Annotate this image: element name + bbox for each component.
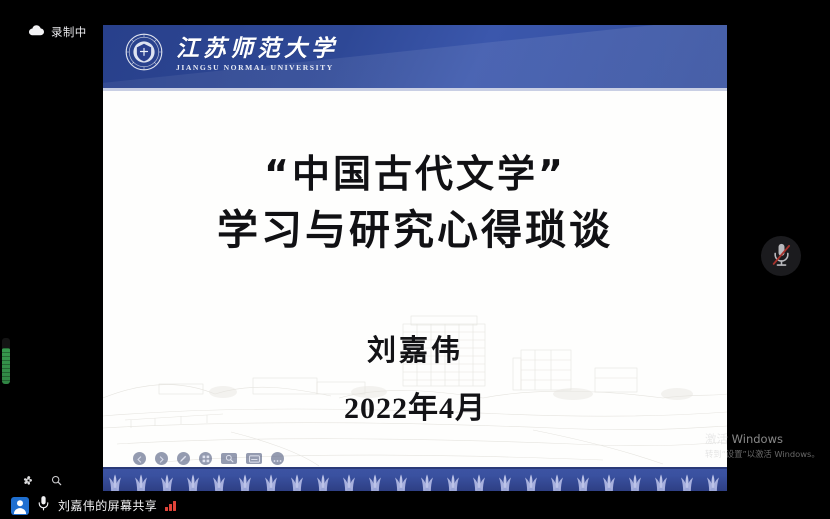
slide-author: 刘嘉伟 <box>103 327 727 369</box>
recording-label: 录制中 <box>51 24 87 40</box>
magnifier-icon <box>225 451 234 466</box>
slide-title-line-1: “中国古代文学” <box>103 149 727 200</box>
powerpoint-presenter-toolbar[interactable] <box>130 450 287 467</box>
university-name-cn: 江苏师范大学 <box>176 37 338 61</box>
slide-navigator-button[interactable] <box>199 452 212 465</box>
slide-byline-group: 刘嘉伟 2022年4月 <box>103 327 727 427</box>
pen-tool-button[interactable] <box>177 452 190 465</box>
lotus-border-pattern <box>103 471 727 491</box>
microphone-muted-button[interactable] <box>761 236 801 276</box>
meeting-screen-share-window: 录制中 <box>0 0 830 519</box>
university-branding: 江苏师范大学 JIANGSU NORMAL UNIVERSITY <box>125 33 338 76</box>
chevron-right-icon <box>158 451 165 466</box>
mini-toolbar[interactable] <box>23 473 62 491</box>
screen-share-label: 刘嘉伟的屏幕共享 <box>58 497 157 514</box>
audio-signal-bars-icon <box>165 500 176 511</box>
subtitles-button[interactable] <box>246 453 262 464</box>
slide-header-band: 江苏师范大学 JIANGSU NORMAL UNIVERSITY <box>103 25 727 88</box>
user-avatar-icon <box>11 497 29 515</box>
university-name-en: JIANGSU NORMAL UNIVERSITY <box>176 63 338 72</box>
previous-slide-button[interactable] <box>133 452 146 465</box>
ellipsis-icon <box>273 451 282 466</box>
audio-level-fill <box>2 348 10 384</box>
pen-icon <box>179 451 188 466</box>
more-options-button[interactable] <box>271 452 284 465</box>
grid-icon <box>202 451 210 466</box>
footer-band-rule <box>103 467 727 469</box>
zoom-tool-button[interactable] <box>221 453 237 464</box>
next-slide-button[interactable] <box>155 452 168 465</box>
cloud-icon <box>29 23 44 41</box>
subtitles-icon <box>249 451 260 466</box>
microphone-muted-icon <box>771 242 792 271</box>
audio-level-meter <box>2 338 10 384</box>
slide-title-group: “中国古代文学” 学习与研究心得琐谈 <box>103 149 727 258</box>
slide-footer-lotus-band <box>103 467 727 491</box>
slide-body: “中国古代文学” 学习与研究心得琐谈 刘嘉伟 2022年4月 <box>103 91 727 467</box>
university-seal-icon <box>125 33 163 76</box>
slide-title-line-2: 学习与研究心得琐谈 <box>103 203 727 258</box>
slide-date: 2022年4月 <box>103 383 727 427</box>
magnifier-icon[interactable] <box>51 473 62 491</box>
status-bar: 刘嘉伟的屏幕共享 <box>0 492 830 519</box>
share-pinwheel-icon[interactable] <box>23 473 34 491</box>
chevron-left-icon <box>136 451 143 466</box>
shared-slide: 江苏师范大学 JIANGSU NORMAL UNIVERSITY <box>103 25 727 491</box>
microphone-icon[interactable] <box>37 495 50 516</box>
recording-indicator: 录制中 <box>29 23 87 41</box>
